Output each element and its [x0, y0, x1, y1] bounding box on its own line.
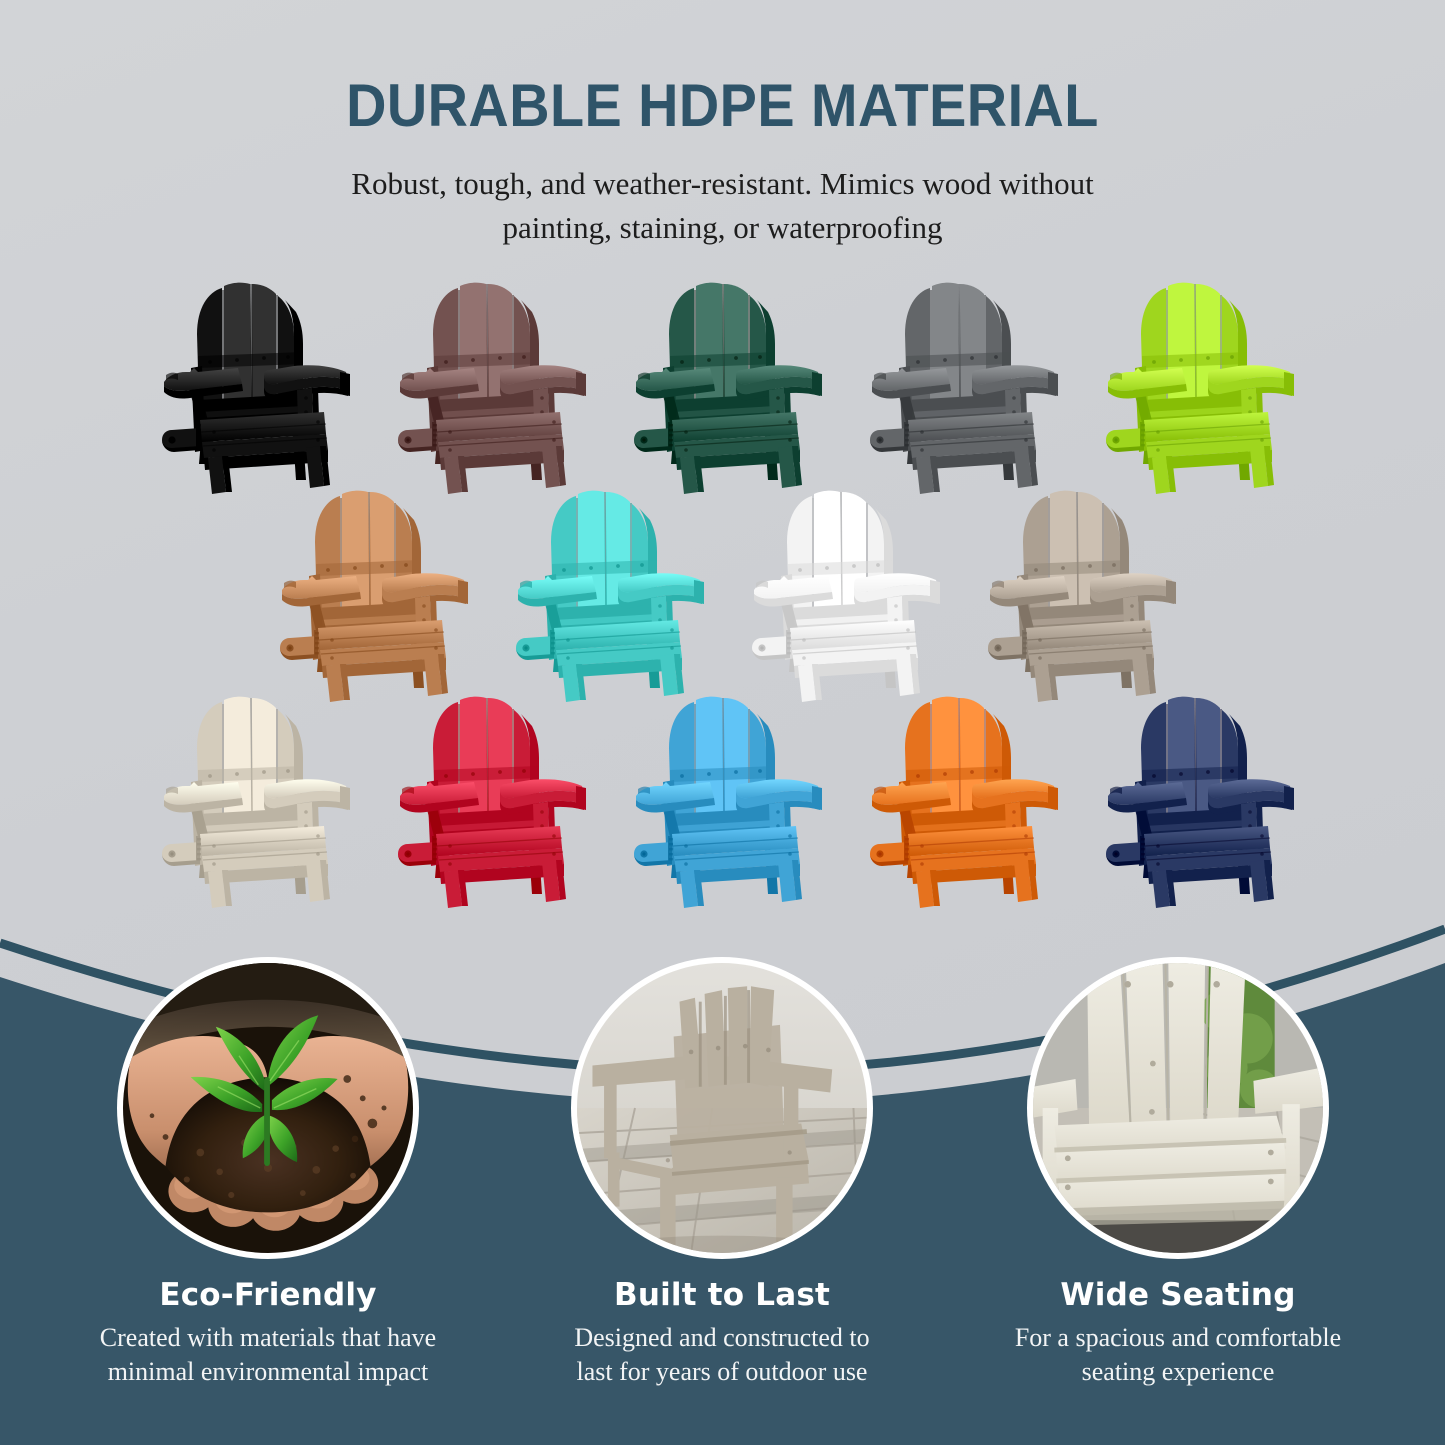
feature-title: Built to Last: [502, 1277, 942, 1313]
feature-desc-line-1: Created with materials that have: [48, 1321, 488, 1355]
feature-built-to-last: Built to Last Designed and constructed t…: [502, 957, 942, 1389]
chair-swatch-brown[interactable]: [378, 272, 596, 494]
page-subtitle: Robust, tough, and weather-resistant. Mi…: [218, 162, 1228, 250]
feature-section: Eco-Friendly Created with materials that…: [0, 885, 1445, 1445]
adirondack-chair-icon: [1086, 686, 1304, 908]
chair-swatch-navy-blue[interactable]: [1086, 686, 1304, 908]
wide-chair-seat-closeup-photo: [1033, 963, 1323, 1253]
chair-swatch-ivory[interactable]: [142, 686, 360, 908]
chair-row-2: [0, 480, 1445, 702]
adirondack-chair-icon: [378, 686, 596, 908]
adirondack-chair-icon: [850, 272, 1068, 494]
adirondack-chair-icon: [142, 686, 360, 908]
feature-desc-line-1: For a spacious and comfortable: [958, 1321, 1398, 1355]
feature-image-ring-1: [117, 957, 419, 1259]
chair-swatch-teak[interactable]: [260, 480, 478, 702]
adirondack-chair-icon: [614, 686, 832, 908]
adirondack-chair-icon: [614, 272, 832, 494]
chair-swatch-red[interactable]: [378, 686, 596, 908]
adirondack-chair-icon: [1086, 272, 1304, 494]
chair-swatch-turquoise[interactable]: [496, 480, 714, 702]
chair-swatch-dark-green[interactable]: [614, 272, 832, 494]
chair-row-1: [0, 272, 1445, 494]
feature-wide-seating: Wide Seating For a spacious and comforta…: [958, 957, 1398, 1389]
chair-row-3: [0, 686, 1445, 908]
adirondack-chair-icon: [732, 480, 950, 702]
chair-swatch-lime-green[interactable]: [1086, 272, 1304, 494]
adirondack-chair-icon: [850, 686, 1068, 908]
feature-title: Wide Seating: [958, 1277, 1398, 1313]
taupe-adirondack-chair-on-patio-photo: [577, 963, 867, 1253]
adirondack-chair-icon: [142, 272, 360, 494]
chair-swatch-white[interactable]: [732, 480, 950, 702]
adirondack-chair-icon: [968, 480, 1186, 702]
feature-desc-line-2: seating experience: [958, 1355, 1398, 1389]
adirondack-chair-icon: [378, 272, 596, 494]
chair-swatch-orange[interactable]: [850, 686, 1068, 908]
feature-description: For a spacious and comfortable seating e…: [958, 1321, 1398, 1389]
chair-swatch-sky-blue[interactable]: [614, 686, 832, 908]
feature-image-ring-2: [571, 957, 873, 1259]
chair-swatch-black[interactable]: [142, 272, 360, 494]
chair-swatch-gray[interactable]: [850, 272, 1068, 494]
header: DURABLE HDPE MATERIAL Robust, tough, and…: [0, 0, 1445, 250]
feature-description: Designed and constructed to last for yea…: [502, 1321, 942, 1389]
subtitle-line-2: painting, staining, or waterproofing: [218, 206, 1228, 250]
chair-color-grid: [0, 272, 1445, 908]
feature-description: Created with materials that have minimal…: [48, 1321, 488, 1389]
adirondack-chair-icon: [260, 480, 478, 702]
page-title: DURABLE HDPE MATERIAL: [51, 76, 1395, 136]
feature-desc-line-1: Designed and constructed to: [502, 1321, 942, 1355]
feature-desc-line-2: last for years of outdoor use: [502, 1355, 942, 1389]
hands-holding-seedling-photo: [123, 963, 413, 1253]
chair-swatch-taupe[interactable]: [968, 480, 1186, 702]
feature-image-ring-3: [1027, 957, 1329, 1259]
subtitle-line-1: Robust, tough, and weather-resistant. Mi…: [218, 162, 1228, 206]
feature-desc-line-2: minimal environmental impact: [48, 1355, 488, 1389]
feature-eco-friendly: Eco-Friendly Created with materials that…: [48, 957, 488, 1389]
adirondack-chair-icon: [496, 480, 714, 702]
feature-title: Eco-Friendly: [48, 1277, 488, 1313]
